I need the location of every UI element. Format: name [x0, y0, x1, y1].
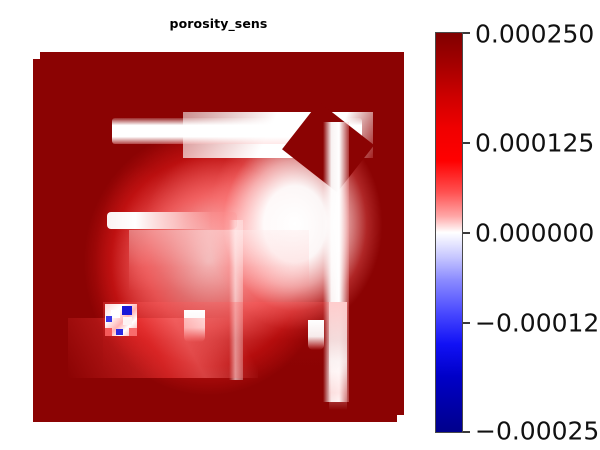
colorbar-tick [463, 142, 470, 144]
inclusion-red-pixel [129, 328, 137, 336]
colorbar-tick-label: 0.000250 [475, 22, 594, 47]
colorbar-tick [463, 322, 470, 324]
field-inner-shelf [129, 230, 309, 290]
colorbar-tick-label: 0.000000 [475, 221, 594, 246]
image-corner-topleft [33, 52, 40, 59]
inclusion-blue-pixel [116, 329, 123, 335]
field-left-nub [107, 212, 237, 229]
colorbar-tick-label: 0.000125 [475, 131, 594, 156]
colorbar-tick [463, 431, 470, 433]
colorbar: 0.000250 0.000125 0.000000 −0.000125 −0.… [435, 32, 463, 433]
colorbar-gradient [435, 32, 463, 433]
inclusion-red-pixel [105, 328, 112, 336]
inclusion-blue-pixel [106, 316, 112, 322]
inclusion-white-pixel [123, 317, 132, 325]
colorbar-tick [463, 232, 470, 234]
colorbar-tick-label: −0.000250 [475, 419, 600, 444]
colorbar-tick [463, 32, 470, 34]
page-title: porosity_sens [33, 16, 404, 32]
field-negative-inclusion [105, 304, 137, 336]
colorbar-tick-label: −0.000125 [475, 311, 600, 336]
field-drip-right [308, 320, 324, 350]
field-diagonal-streak [68, 318, 258, 378]
inclusion-blue-pixel [122, 306, 132, 315]
heatmap-image [33, 52, 404, 422]
inclusion-white-pixel [111, 310, 120, 318]
image-corner-bottomright [397, 415, 404, 422]
